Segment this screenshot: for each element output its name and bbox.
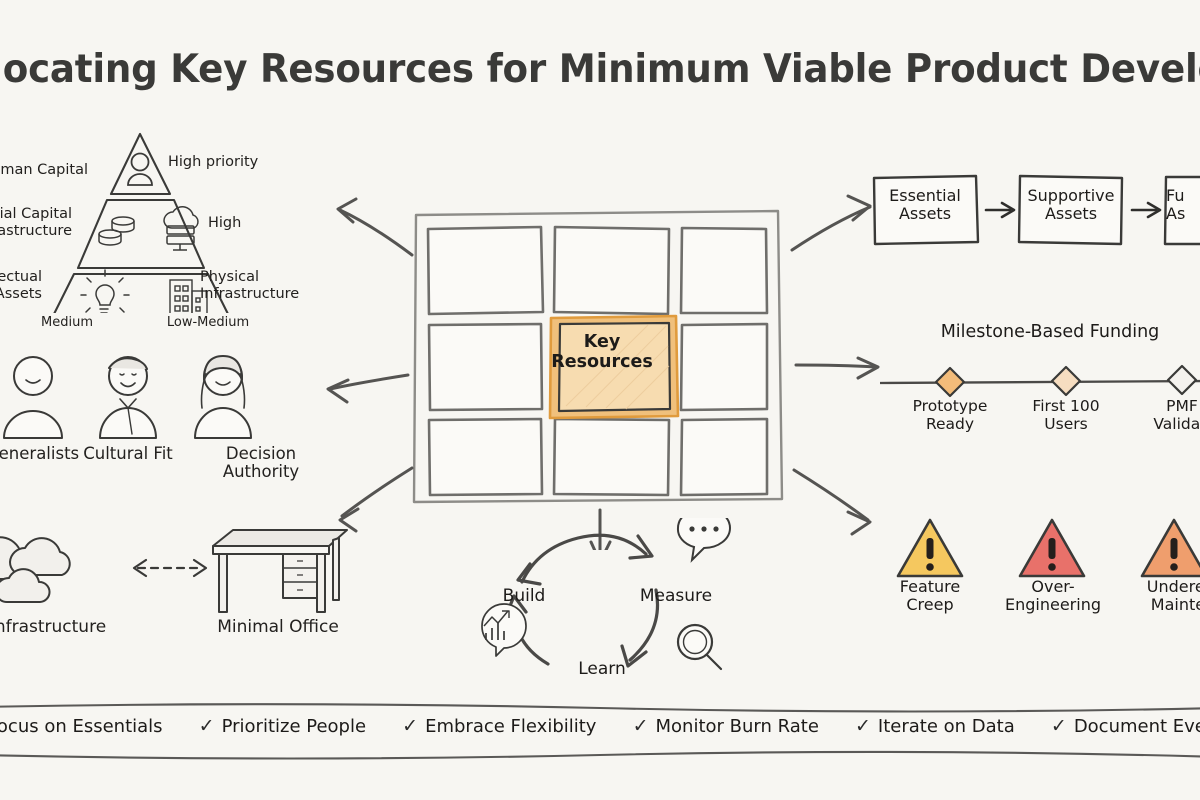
people-label-1: Cultural Fit bbox=[68, 445, 188, 463]
pitfall-label-0: Feature Creep bbox=[880, 578, 980, 614]
person-plain-icon bbox=[4, 357, 62, 438]
asset-flow-step-1: Supportive Assets bbox=[1020, 187, 1122, 223]
check-icon: ✓ bbox=[402, 717, 418, 736]
pitfall-label-1: Over- Engineering bbox=[990, 578, 1116, 614]
best-practices-checklist: ✓ ocus on Essentials ✓ Prioritize People… bbox=[0, 716, 1200, 737]
person-icon bbox=[128, 154, 152, 186]
desk-icon bbox=[205, 520, 355, 625]
milestone-label-1: First 100 Users bbox=[1016, 398, 1116, 433]
checklist-item-1[interactable]: ✓ Prioritize People bbox=[199, 716, 366, 737]
pyramid-tier-3-right-label: Physical Infrastructure bbox=[200, 269, 320, 302]
person-male-icon bbox=[100, 357, 156, 438]
checklist-item-3[interactable]: ✓ Monitor Burn Rate bbox=[633, 716, 819, 737]
timeline-title: Milestone-Based Funding bbox=[900, 322, 1200, 342]
checklist-item-5[interactable]: ✓ Document Everyt bbox=[1051, 716, 1200, 737]
infra-left-label: Infrastructure bbox=[0, 618, 148, 637]
asset-flow-step-2: Fu As bbox=[1166, 187, 1200, 223]
milestone-label-2: PMF Validati bbox=[1132, 398, 1200, 433]
checklist-item-4[interactable]: ✓ Iterate on Data bbox=[855, 716, 1015, 737]
infra-right-label: Minimal Office bbox=[198, 618, 358, 637]
loop-node-learn: Learn bbox=[567, 659, 637, 679]
pyramid-tier-3-label: Intellectual Assets bbox=[0, 269, 42, 302]
checklist-item-label: Document Everyt bbox=[1074, 716, 1200, 737]
checklist-item-label: Iterate on Data bbox=[878, 716, 1015, 737]
checklist-item-0[interactable]: ✓ ocus on Essentials bbox=[0, 716, 163, 737]
pyramid-tier-1-label: Human Capital bbox=[0, 162, 88, 179]
pitfall-warnings-group bbox=[890, 514, 1200, 584]
dashed-double-arrow-icon bbox=[120, 548, 220, 588]
pyramid-tier-3-priority-left: Medium bbox=[22, 316, 112, 331]
person-female-icon bbox=[195, 356, 251, 438]
people-label-2: Decision Authority bbox=[203, 445, 319, 482]
key-resources-label: Key Resources bbox=[534, 332, 670, 373]
magnifier-icon bbox=[678, 625, 721, 669]
page-title: Allocating Key Resources for Minimum Via… bbox=[0, 47, 1200, 92]
milestone-marker-2 bbox=[1168, 366, 1196, 394]
checklist-item-label: Monitor Burn Rate bbox=[656, 716, 819, 737]
milestone-label-0: Prototype Ready bbox=[900, 398, 1000, 433]
milestone-marker-0 bbox=[936, 368, 964, 396]
checklist-item-label: Prioritize People bbox=[222, 716, 366, 737]
chart-icon bbox=[482, 604, 526, 656]
milestone-marker-1 bbox=[1052, 367, 1080, 395]
speech-bubble-icon bbox=[678, 518, 730, 560]
checklist-item-label: ocus on Essentials bbox=[0, 716, 163, 737]
check-icon: ✓ bbox=[199, 717, 215, 736]
asset-flow-step-0: Essential Assets bbox=[874, 187, 976, 223]
checklist-item-2[interactable]: ✓ Embrace Flexibility bbox=[402, 716, 596, 737]
pyramid-tier-2-label: Financial Capital Infrastructure bbox=[0, 206, 72, 239]
cloud-infrastructure-icon bbox=[0, 518, 138, 618]
coins-icon bbox=[99, 217, 134, 245]
check-icon: ✓ bbox=[1051, 717, 1067, 736]
pyramid-tier-3-priority-right: Low-Medium bbox=[153, 316, 263, 331]
pyramid-tier-1-priority: High priority bbox=[168, 154, 278, 171]
loop-node-build: Build bbox=[489, 586, 559, 606]
infographic-canvas: Allocating Key Resources for Minimum Via… bbox=[0, 0, 1200, 800]
check-icon: ✓ bbox=[855, 717, 871, 736]
people-icons-group bbox=[0, 352, 300, 452]
pyramid-tier-2-priority: High bbox=[208, 215, 288, 232]
pitfall-label-2: Underest Mainten bbox=[1120, 578, 1200, 614]
loop-node-measure: Measure bbox=[630, 586, 722, 606]
check-icon: ✓ bbox=[633, 717, 649, 736]
lightbulb-icon bbox=[81, 270, 129, 313]
checklist-item-label: Embrace Flexibility bbox=[425, 716, 596, 737]
